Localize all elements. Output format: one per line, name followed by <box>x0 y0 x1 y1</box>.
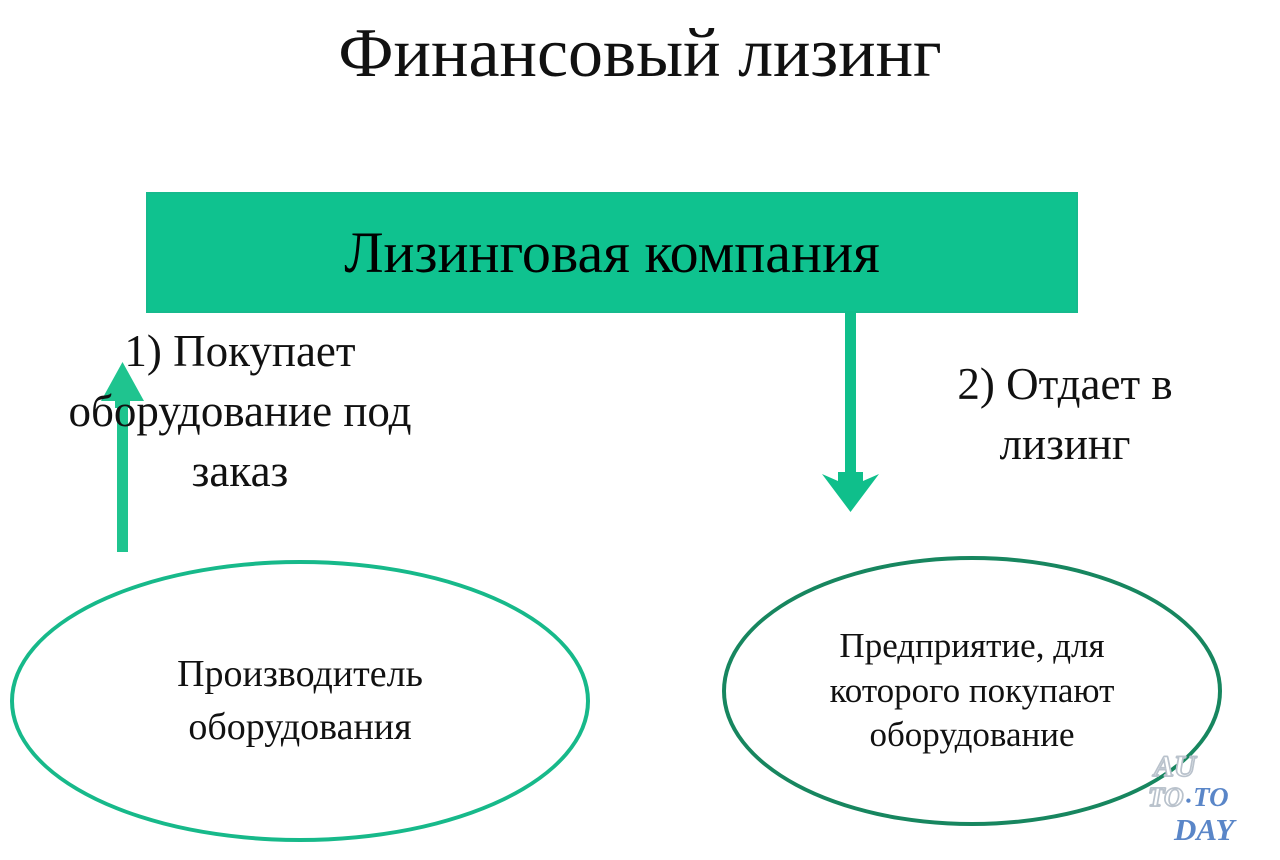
watermark-line-1: AU <box>1154 752 1196 782</box>
arrow-down-lease <box>822 311 879 512</box>
watermark-separator-dot: • <box>1184 794 1194 810</box>
step-1-label: 1) Покупает оборудование под заказ <box>30 322 450 502</box>
page-title: Финансовый лизинг <box>0 16 1280 92</box>
manufacturer-ellipse: Производитель оборудования <box>10 560 590 842</box>
watermark-line-3: DAY <box>1174 814 1234 845</box>
step-2-label: 2) Отдает в лизинг <box>900 355 1230 475</box>
leasing-company-label: Лизинговая компания <box>344 224 880 282</box>
watermark-line-2-left: TO <box>1148 784 1184 811</box>
lessee-label: Предприятие, для которого покупают обору… <box>772 624 1172 758</box>
manufacturer-label: Производитель оборудования <box>100 648 500 754</box>
lessee-ellipse: Предприятие, для которого покупают обору… <box>722 556 1222 826</box>
watermark: AU TO • TO DAY <box>1148 752 1276 856</box>
watermark-line-2-right: TO <box>1193 784 1229 811</box>
leasing-company-box: Лизинговая компания <box>146 192 1078 313</box>
